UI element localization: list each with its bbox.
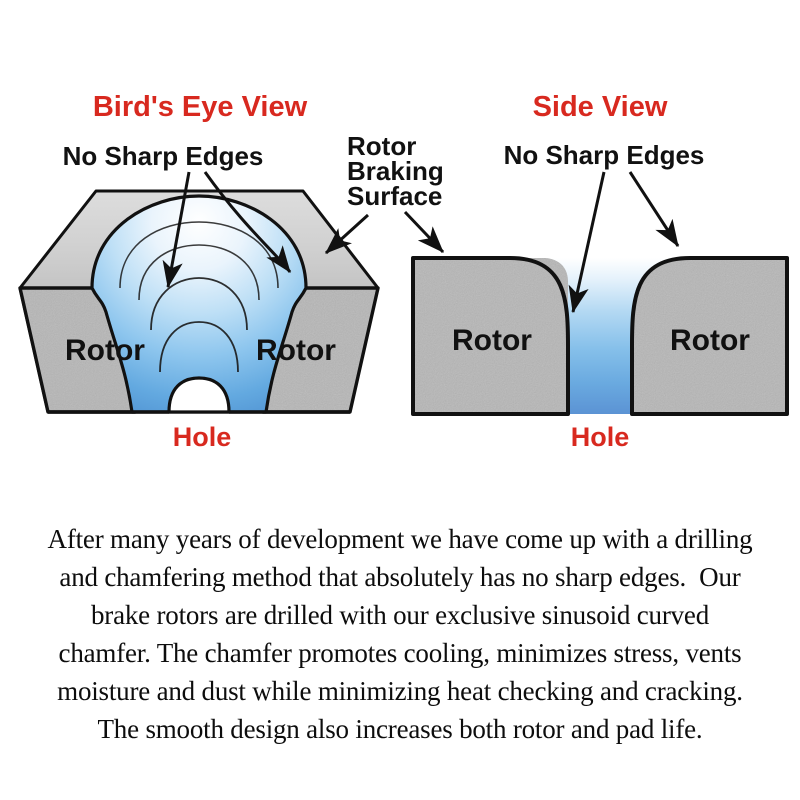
description-line-3: brake rotors are drilled with our exclus… <box>8 596 792 634</box>
description-line-6: The smooth design also increases both ro… <box>8 710 792 748</box>
side-view-heading: Side View <box>533 91 668 123</box>
description-paragraph: After many years of development we have … <box>0 520 800 748</box>
description-line-4: chamfer. The chamfer promotes cooling, m… <box>8 634 792 672</box>
description-line-5: moisture and dust while minimizing heat … <box>8 672 792 710</box>
left-view-rotor-label-right: Rotor <box>256 334 336 367</box>
side-view-hole-label: Hole <box>571 422 630 452</box>
arrow-side-view-braking-surface <box>405 212 443 252</box>
rotor-chamfer-diagram: Bird's Eye View No Sharp Edges Rotor Bra… <box>0 0 800 470</box>
birds-eye-view-group: Bird's Eye View No Sharp Edges Rotor Bra… <box>20 91 444 452</box>
side-view-rotor-label-right: Rotor <box>670 324 750 357</box>
right-arrow-no-sharp-edges-b <box>630 172 678 246</box>
side-view-group: Side View No Sharp Edges Rotor Rotor <box>405 91 787 452</box>
left-no-sharp-edges-label: No Sharp Edges <box>63 141 264 171</box>
description-line-1: After many years of development we have … <box>8 520 792 558</box>
birds-eye-view-heading: Bird's Eye View <box>93 91 308 123</box>
rotor-braking-surface-label-line3: Surface <box>347 181 442 211</box>
description-line-2: and chamfering method that absolutely ha… <box>8 558 792 596</box>
left-view-rotor-label-left: Rotor <box>65 334 145 367</box>
left-view-hole-label: Hole <box>173 422 232 452</box>
side-view-rotor-label-left: Rotor <box>452 324 532 357</box>
right-no-sharp-edges-label: No Sharp Edges <box>504 140 705 170</box>
